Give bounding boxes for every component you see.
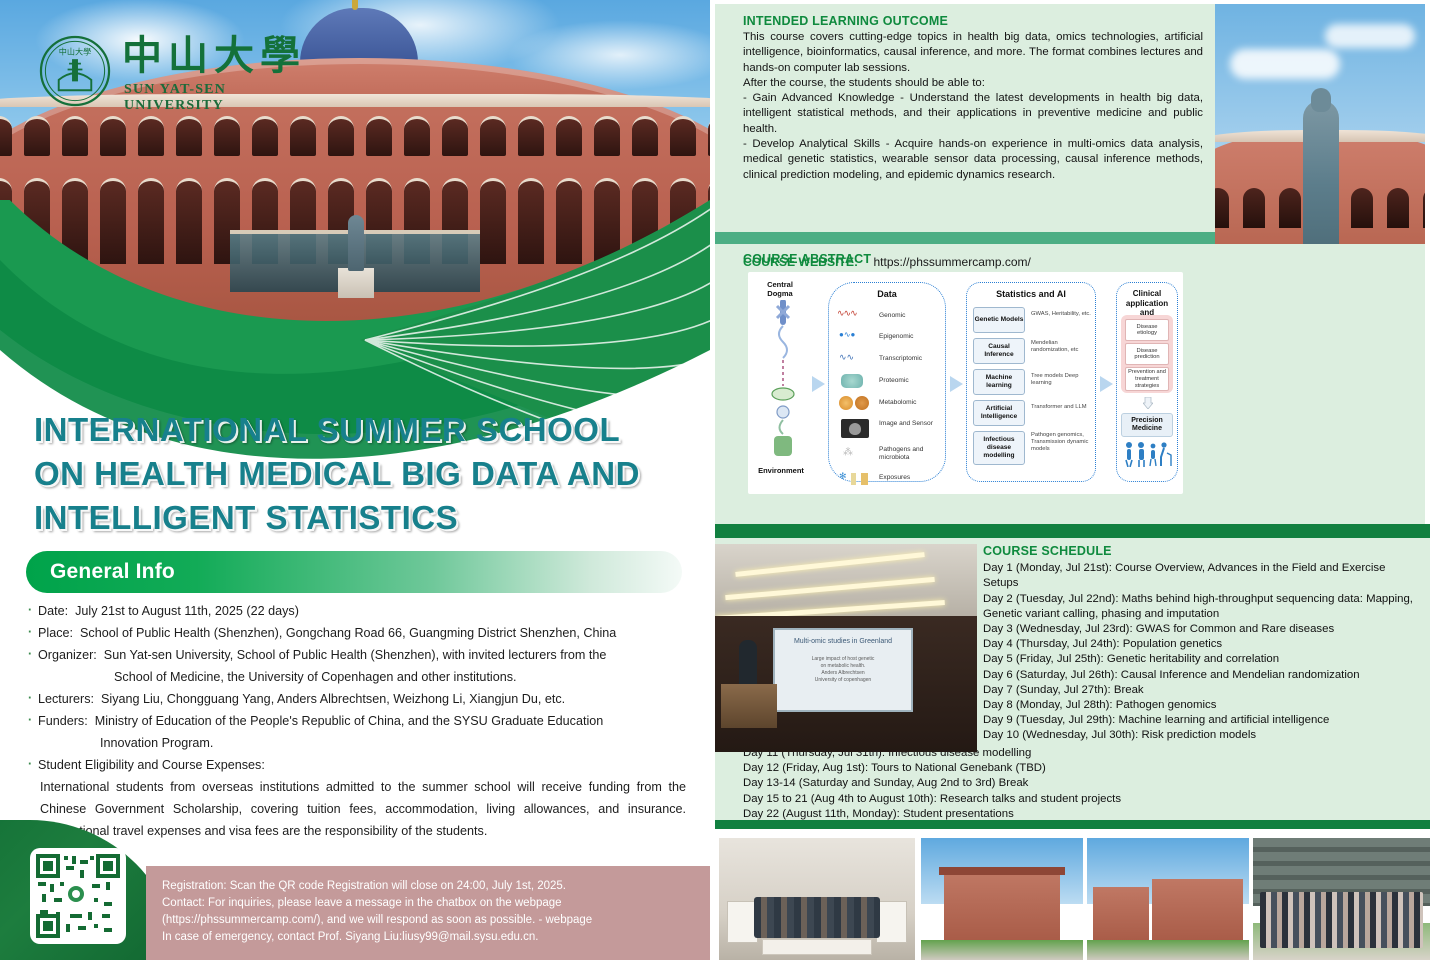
ilo-paragraph-2: After the course, the students should be… xyxy=(743,76,1203,91)
slide-title: Multi-omic studies in Greenland xyxy=(783,638,903,645)
dna-chromosome-icon xyxy=(770,300,796,458)
figure-data-items: ∿∿∿Genomic ●∿●Epigenomic ∿∿Transcriptomi… xyxy=(835,307,941,489)
photo-campus-building xyxy=(921,838,1083,960)
course-website-label: COURSE WEBSITE: xyxy=(743,255,858,269)
schedule-day-3: Day 3 (Wednesday, Jul 23rd): GWAS for Co… xyxy=(983,622,1423,637)
figure-data-title: Data xyxy=(829,289,945,299)
svg-text:中山大學: 中山大學 xyxy=(59,47,92,57)
info-label-lecturers: Lecturers: xyxy=(38,692,94,706)
schedule-right-block: COURSE SCHEDULE Day 1 (Monday, Jul 21st)… xyxy=(983,544,1423,744)
info-label-funders: Funders: xyxy=(38,714,88,728)
title-line-2: ON HEALTH MEDICAL BIG DATA AND xyxy=(34,452,684,496)
schedule-day-8: Day 8 (Monday, Jul 28th): Pathogen genom… xyxy=(983,698,1423,713)
course-abstract-figure: Central Dogma Environment Data xyxy=(748,272,1183,494)
title-line-3: INTELLIGENT STATISTICS xyxy=(34,496,684,540)
page-title: INTERNATIONAL SUMMER SCHOOL ON HEALTH ME… xyxy=(34,408,684,540)
left-column: 中山大學 中山大學 SUN YAT-SEN UNIVERSITY INTERNA… xyxy=(0,0,710,960)
photo-strip xyxy=(715,828,1430,960)
university-name-cn: 中山大學 xyxy=(122,32,306,80)
photo-campus-courtyard xyxy=(1087,838,1249,960)
info-item-lecturers: Lecturers: Siyang Liu, Chongguang Yang, … xyxy=(26,688,686,710)
right-column: INTENDED LEARNING OUTCOME This course co… xyxy=(710,0,1430,960)
ilo-bullet-2: - Develop Analytical Skills - Acquire ha… xyxy=(743,137,1203,183)
info-value-funders: Ministry of Education of the People's Re… xyxy=(95,714,604,728)
schedule-bottom-block: Day 11 (Thursday, Jul 31th): Infectious … xyxy=(743,746,1423,822)
general-info-list: Date: July 21st to August 11th, 2025 (22… xyxy=(26,600,686,842)
divider-ilo-abstract xyxy=(715,232,1215,244)
schedule-day-9: Day 9 (Tuesday, Jul 29th): Machine learn… xyxy=(983,713,1423,728)
window-row-upper xyxy=(0,116,710,156)
info-label-eligibility: Student Eligibility and Course Expenses: xyxy=(38,758,265,772)
schedule-day-10: Day 10 (Wednesday, Jul 30th): Risk predi… xyxy=(983,728,1423,743)
schedule-day-2: Day 2 (Tuesday, Jul 22nd): Maths behind … xyxy=(983,592,1423,622)
schedule-day-6: Day 6 (Saturday, Jul 26th): Causal Infer… xyxy=(983,668,1423,683)
intended-learning-outcome-panel: INTENDED LEARNING OUTCOME This course co… xyxy=(715,4,1215,232)
university-logo: 中山大學 中山大學 SUN YAT-SEN UNIVERSITY xyxy=(38,32,308,110)
info-item-eligibility: Student Eligibility and Course Expenses: xyxy=(26,754,686,776)
figure-precision-medicine: Precision Medicine xyxy=(1121,413,1173,437)
info-organizer-continued: School of Medicine, the University of Co… xyxy=(26,666,686,688)
info-value-place: School of Public Health (Shenzhen), Gong… xyxy=(80,626,616,640)
photo-group-indoor xyxy=(719,838,915,960)
university-name-en: SUN YAT-SEN UNIVERSITY xyxy=(124,82,308,114)
figure-clinical-column: Clinical application and translation Dis… xyxy=(1116,282,1178,482)
podium xyxy=(721,684,777,728)
arrow-1-icon xyxy=(812,376,826,392)
divider-abstract-schedule xyxy=(715,524,1430,538)
arrow-2-icon xyxy=(950,376,964,392)
info-eligibility-paragraph: International students from overseas ins… xyxy=(26,776,686,842)
info-item-date: Date: July 21st to August 11th, 2025 (22… xyxy=(26,600,686,622)
figure-data-column: Data ∿∿∿Genomic ●∿●Epigenomic ∿∿Transcri… xyxy=(828,282,946,482)
figure-statistics-column: Statistics and AI Genetic Models GWAS, H… xyxy=(966,282,1096,482)
footer-line-webpage: (https://phssummercamp.com/), and we wil… xyxy=(162,912,700,929)
info-label-place: Place: xyxy=(38,626,73,640)
schedule-day-15-21: Day 15 to 21 (Aug 4th to August 10th): R… xyxy=(743,792,1423,807)
info-value-lecturers: Siyang Liu, Chongguang Yang, Anders Albr… xyxy=(101,692,565,706)
info-item-place: Place: School of Public Health (Shenzhen… xyxy=(26,622,686,644)
footer-text: Registration: Scan the QR code Registrat… xyxy=(162,878,700,946)
schedule-day-13-14: Day 13-14 (Saturday and Sunday, Aug 2nd … xyxy=(743,776,1423,791)
ilo-paragraph-1: This course covers cutting-edge topics i… xyxy=(743,30,1203,76)
people-icon xyxy=(1123,441,1173,467)
general-info-header: General Info xyxy=(26,551,682,593)
slide-subtitle: Large impact of host genetic on metaboli… xyxy=(783,656,903,684)
ilo-heading: INTENDED LEARNING OUTCOME xyxy=(743,14,1203,28)
info-value-organizer: Sun Yat-sen University, School of Public… xyxy=(104,648,607,662)
projection-screen: Multi-omic studies in Greenland Large im… xyxy=(773,628,913,712)
course-website-row: COURSE WEBSITE: https://phssummercamp.co… xyxy=(743,255,1031,269)
schedule-day-12: Day 12 (Friday, Aug 1st): Tours to Natio… xyxy=(743,761,1423,776)
arrow-3-icon xyxy=(1100,376,1114,392)
schedule-day-4: Day 4 (Thursday, Jul 24th): Population g… xyxy=(983,637,1423,652)
qr-code-icon xyxy=(36,854,120,938)
poster-root: 中山大學 中山大學 SUN YAT-SEN UNIVERSITY INTERNA… xyxy=(0,0,1430,960)
figure-statistics-title: Statistics and AI xyxy=(967,289,1095,299)
course-website-url[interactable]: https://phssummercamp.com/ xyxy=(874,255,1031,269)
general-info-title: General Info xyxy=(50,560,175,584)
photo-group-outdoor xyxy=(1253,838,1430,960)
footer-line-emergency: In case of emergency, contact Prof. Siya… xyxy=(162,929,700,946)
figure-clinical-items: Disease etiology Disease prediction Prev… xyxy=(1121,315,1173,393)
figure-statistics-items: Genetic Models GWAS, Heritability, etc. … xyxy=(973,307,1091,469)
schedule-day-5: Day 5 (Friday, Jul 25th): Genetic herita… xyxy=(983,652,1423,667)
sysu-emblem-icon: 中山大學 xyxy=(38,34,112,108)
lecture-hall-photo: Multi-omic studies in Greenland Large im… xyxy=(715,544,977,752)
info-funders-continued: Innovation Program. xyxy=(26,732,686,754)
info-item-organizer: Organizer: Sun Yat-sen University, Schoo… xyxy=(26,644,686,666)
down-arrow-icon xyxy=(1143,397,1153,409)
figure-central-dogma-label: Central Dogma xyxy=(754,280,806,298)
registration-footer: Registration: Scan the QR code Registrat… xyxy=(146,866,710,960)
footer-line-registration: Registration: Scan the QR code Registrat… xyxy=(162,878,700,895)
info-value-date: July 21st to August 11th, 2025 (22 days) xyxy=(75,604,299,618)
info-label-organizer: Organizer: xyxy=(38,648,97,662)
registration-qr-code[interactable] xyxy=(30,848,126,944)
course-schedule-heading: COURSE SCHEDULE xyxy=(983,544,1423,559)
info-label-date: Date: xyxy=(38,604,68,618)
schedule-day-7: Day 7 (Sunday, Jul 27th): Break xyxy=(983,683,1423,698)
schedule-day-1: Day 1 (Monday, Jul 21st): Course Overvie… xyxy=(983,561,1423,591)
figure-environment-label: Environment xyxy=(750,466,812,475)
title-line-1: INTERNATIONAL SUMMER SCHOOL xyxy=(34,408,684,452)
footer-line-contact: Contact: For inquiries, please leave a m… xyxy=(162,895,700,912)
info-item-funders: Funders: Ministry of Education of the Pe… xyxy=(26,710,686,732)
ilo-bullet-1: - Gain Advanced Knowledge - Understand t… xyxy=(743,91,1203,137)
